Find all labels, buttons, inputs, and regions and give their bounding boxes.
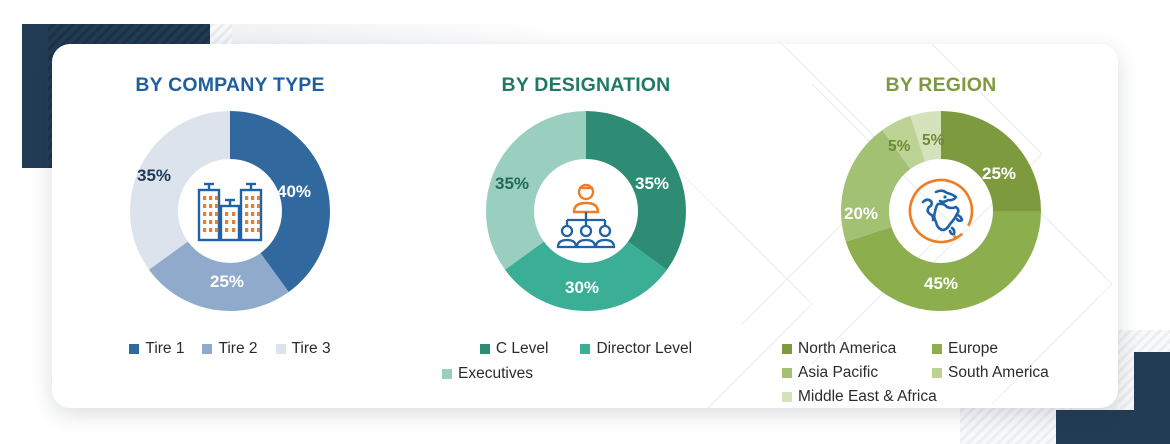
chart-title-designation: BY DESIGNATION: [408, 74, 764, 97]
legend-label: South America: [948, 364, 1049, 382]
legend-company-type: Tire 1 Tire 2 Tire 3: [52, 340, 408, 364]
legend-item-tire-3[interactable]: Tire 3: [276, 340, 331, 358]
legend-swatch-icon: [129, 344, 139, 354]
legend-label: Middle East & Africa: [798, 388, 937, 406]
legend-swatch-icon: [782, 368, 792, 378]
office-buildings-icon: [187, 168, 273, 254]
legend-swatch-icon: [580, 344, 590, 354]
legend-item-director-level[interactable]: Director Level: [580, 340, 692, 358]
legend-designation: C Level Director Level Executives: [408, 340, 764, 390]
legend-swatch-icon: [932, 344, 942, 354]
legend-label: Asia Pacific: [798, 364, 878, 382]
globe-icon: [898, 168, 984, 254]
donut-chart-designation: 35% 30% 35%: [481, 106, 691, 316]
chart-panel-company-type: BY COMPANY TYPE 40% 25% 35%: [52, 44, 408, 408]
legend-item-south-america[interactable]: South America: [932, 364, 1082, 382]
chart-title-company-type: BY COMPANY TYPE: [52, 74, 408, 97]
legend-item-c-level[interactable]: C Level: [480, 340, 549, 358]
donut-chart-region: 25% 45% 20% 5% 5%: [836, 106, 1046, 316]
legend-label: Tire 1: [145, 340, 184, 358]
legend-item-tire-1[interactable]: Tire 1: [129, 340, 184, 358]
chart-panel-designation: BY DESIGNATION 35% 30% 35%: [408, 44, 764, 408]
legend-label: Europe: [948, 340, 998, 358]
legend-swatch-icon: [276, 344, 286, 354]
legend-label: Executives: [458, 365, 533, 383]
infographic-card: BY COMPANY TYPE 40% 25% 35%: [52, 44, 1118, 408]
chart-panel-region: BY REGION 25%: [764, 44, 1118, 408]
legend-item-middle-east-africa[interactable]: Middle East & Africa: [782, 388, 1102, 406]
legend-item-asia-pacific[interactable]: Asia Pacific: [782, 364, 932, 382]
legend-item-north-america[interactable]: North America: [782, 340, 932, 358]
org-hierarchy-icon: [543, 168, 629, 254]
legend-swatch-icon: [782, 344, 792, 354]
legend-label: C Level: [496, 340, 549, 358]
legend-swatch-icon: [202, 344, 212, 354]
legend-item-europe[interactable]: Europe: [932, 340, 1082, 358]
donut-chart-company-type: 40% 25% 35%: [125, 106, 335, 316]
legend-swatch-icon: [480, 344, 490, 354]
legend-swatch-icon: [932, 368, 942, 378]
chart-title-region: BY REGION: [764, 74, 1118, 97]
legend-swatch-icon: [782, 392, 792, 402]
legend-label: Director Level: [596, 340, 692, 358]
legend-label: Tire 3: [292, 340, 331, 358]
legend-item-executives[interactable]: Executives: [442, 365, 748, 383]
legend-swatch-icon: [442, 369, 452, 379]
legend-label: North America: [798, 340, 896, 358]
infographic-stage: BY COMPANY TYPE 40% 25% 35%: [0, 0, 1170, 444]
legend-item-tire-2[interactable]: Tire 2: [202, 340, 257, 358]
legend-region: North America Europe Asia Pacific South …: [764, 340, 1118, 408]
legend-label: Tire 2: [218, 340, 257, 358]
